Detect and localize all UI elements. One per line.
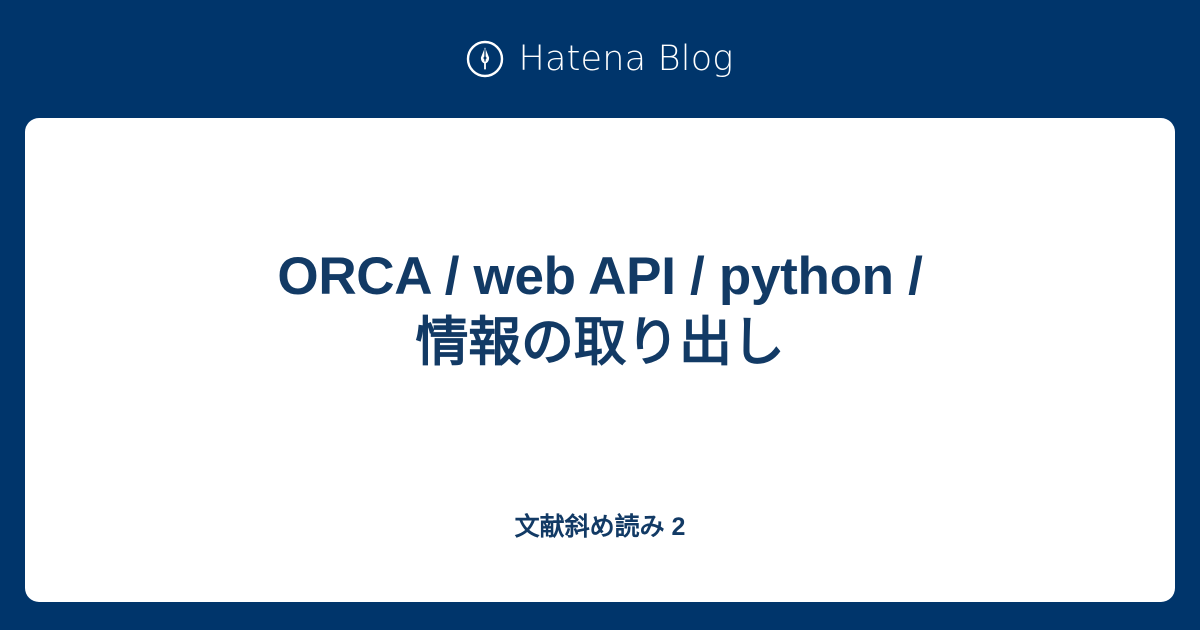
ogp-share-card: Hatena Blog ORCA / web API / python / 情報… [0,0,1200,630]
entry-card: ORCA / web API / python / 情報の取り出し 文献斜め読み… [25,118,1175,602]
entry-title-line-2: 情報の取り出し [95,310,1105,376]
brand-header: Hatena Blog [0,0,1200,118]
entry-title: ORCA / web API / python / 情報の取り出し [95,244,1105,376]
entry-title-line-1: ORCA / web API / python / [95,244,1105,310]
brand-name-label: Hatena Blog [518,40,733,78]
entry-card-content: ORCA / web API / python / 情報の取り出し 文献斜め読み… [25,118,1175,602]
blog-name-label: 文献斜め読み 2 [95,510,1105,544]
pen-nib-in-circle-icon [466,40,504,78]
